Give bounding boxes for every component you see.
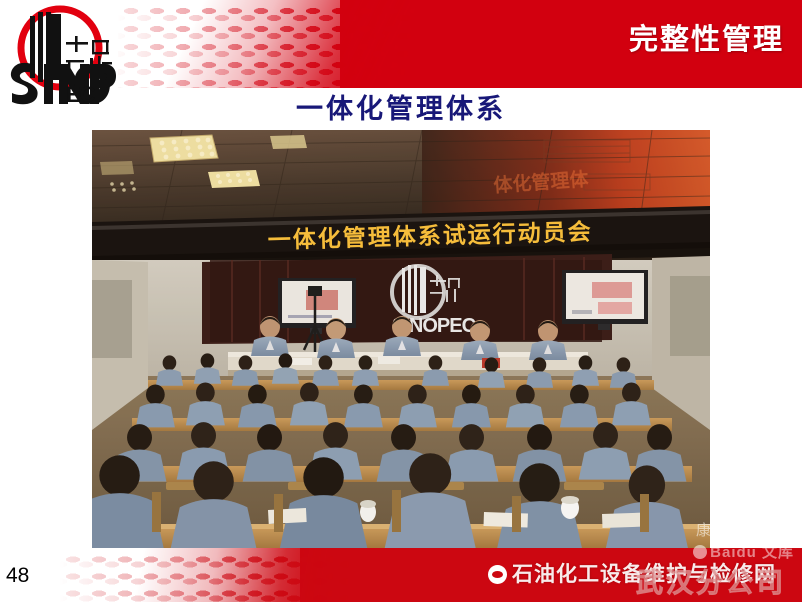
watermark-hse-text: 康安全与环境: [696, 519, 798, 540]
paw-icon: [693, 545, 707, 559]
header-title: 完整性管理: [629, 22, 784, 58]
footer-halftone-pattern-offset: [60, 556, 360, 602]
watermark-logo-icon: [488, 565, 507, 584]
watermark-baidu: Baidu 文库: [693, 541, 794, 562]
watermark-baidu-text: Baidu 文库: [710, 541, 794, 562]
watermark-branch-text: 武汉分公司: [636, 561, 786, 600]
page-title: 一体化管理体系: [0, 92, 802, 126]
header-halftone-pattern-offset: [118, 9, 418, 88]
page-number: 48: [6, 564, 29, 588]
meeting-photo: 体化管理体 一体化管理体系试运行动员会: [92, 130, 710, 548]
slide-canvas: 完整性管理: [0, 0, 802, 602]
